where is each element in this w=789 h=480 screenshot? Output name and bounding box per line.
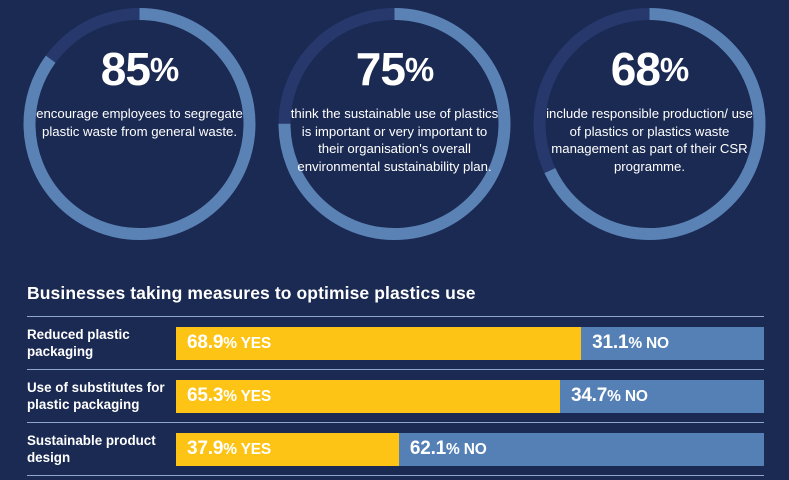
bar-value-yes: 65.3% YES <box>187 385 271 407</box>
bar-value-yes: 37.9% YES <box>187 438 271 460</box>
donut-chart-3: 68% include responsible production/ use … <box>528 0 771 248</box>
bar-value-no: 31.1% NO <box>592 332 669 354</box>
bar-row: Reduced plastic packaging 68.9% YES 31.1… <box>27 316 764 369</box>
bar-row-label: Reduced plastic packaging <box>27 326 176 360</box>
bar-segment-no: 34.7% NO <box>560 380 764 413</box>
bar-value-no-number: 34.7 <box>571 385 607 406</box>
bar-track: 65.3% YES 34.7% NO <box>176 380 764 413</box>
bar-segment-yes: 65.3% YES <box>176 380 560 413</box>
bar-track: 37.9% YES 62.1% NO <box>176 433 764 466</box>
donut-percent-value-3: 68 <box>611 43 660 95</box>
bar-row: Use of substitutes for plastic packaging… <box>27 369 764 422</box>
bar-value-no-suffix: % NO <box>446 441 487 458</box>
bar-segment-no: 62.1% NO <box>399 433 764 466</box>
section-title: Businesses taking measures to optimise p… <box>27 283 476 304</box>
bar-segment-no: 31.1% NO <box>581 327 764 360</box>
donut-percent-3: 68% <box>611 46 689 92</box>
donut-chart-1: 85% encourage employees to segregate pla… <box>18 0 261 248</box>
donut-percent-value-2: 75 <box>356 43 405 95</box>
donut-percent-2: 75% <box>356 46 434 92</box>
bar-value-yes-suffix: % YES <box>223 441 271 458</box>
percent-symbol-1: % <box>150 51 178 88</box>
donut-percent-value-1: 85 <box>101 43 150 95</box>
bar-segment-yes: 68.9% YES <box>176 327 581 360</box>
bar-value-no: 62.1% NO <box>410 438 487 460</box>
bar-row-label: Sustainable product design <box>27 432 176 466</box>
percent-symbol-3: % <box>660 51 688 88</box>
donut-chart-group: 85% encourage employees to segregate pla… <box>0 0 789 268</box>
bar-value-yes-suffix: % YES <box>223 335 271 352</box>
percent-symbol-2: % <box>405 51 433 88</box>
bar-value-yes-number: 68.9 <box>187 332 223 353</box>
bar-value-yes-number: 65.3 <box>187 385 223 406</box>
bar-value-yes-suffix: % YES <box>223 388 271 405</box>
bar-value-yes-number: 37.9 <box>187 438 223 459</box>
donut-caption-2: think the sustainable use of plastics is… <box>289 105 501 175</box>
donut-percent-1: 85% <box>101 46 179 92</box>
bar-value-yes: 68.9% YES <box>187 332 271 354</box>
donut-chart-2: 75% think the sustainable use of plastic… <box>273 0 516 248</box>
bar-row-label: Use of substitutes for plastic packaging <box>27 379 176 413</box>
bar-row: Sustainable product design 37.9% YES 62.… <box>27 422 764 476</box>
donut-caption-1: encourage employees to segregate plastic… <box>34 105 246 140</box>
bar-value-no: 34.7% NO <box>571 385 648 407</box>
bar-value-no-number: 62.1 <box>410 438 446 459</box>
bar-value-no-suffix: % NO <box>628 335 669 352</box>
bar-segment-yes: 37.9% YES <box>176 433 399 466</box>
bar-track: 68.9% YES 31.1% NO <box>176 327 764 360</box>
bar-value-no-suffix: % NO <box>607 388 648 405</box>
donut-caption-3: include responsible production/ use of p… <box>544 105 756 175</box>
bar-value-no-number: 31.1 <box>592 332 628 353</box>
stacked-bar-chart: Reduced plastic packaging 68.9% YES 31.1… <box>27 316 764 476</box>
